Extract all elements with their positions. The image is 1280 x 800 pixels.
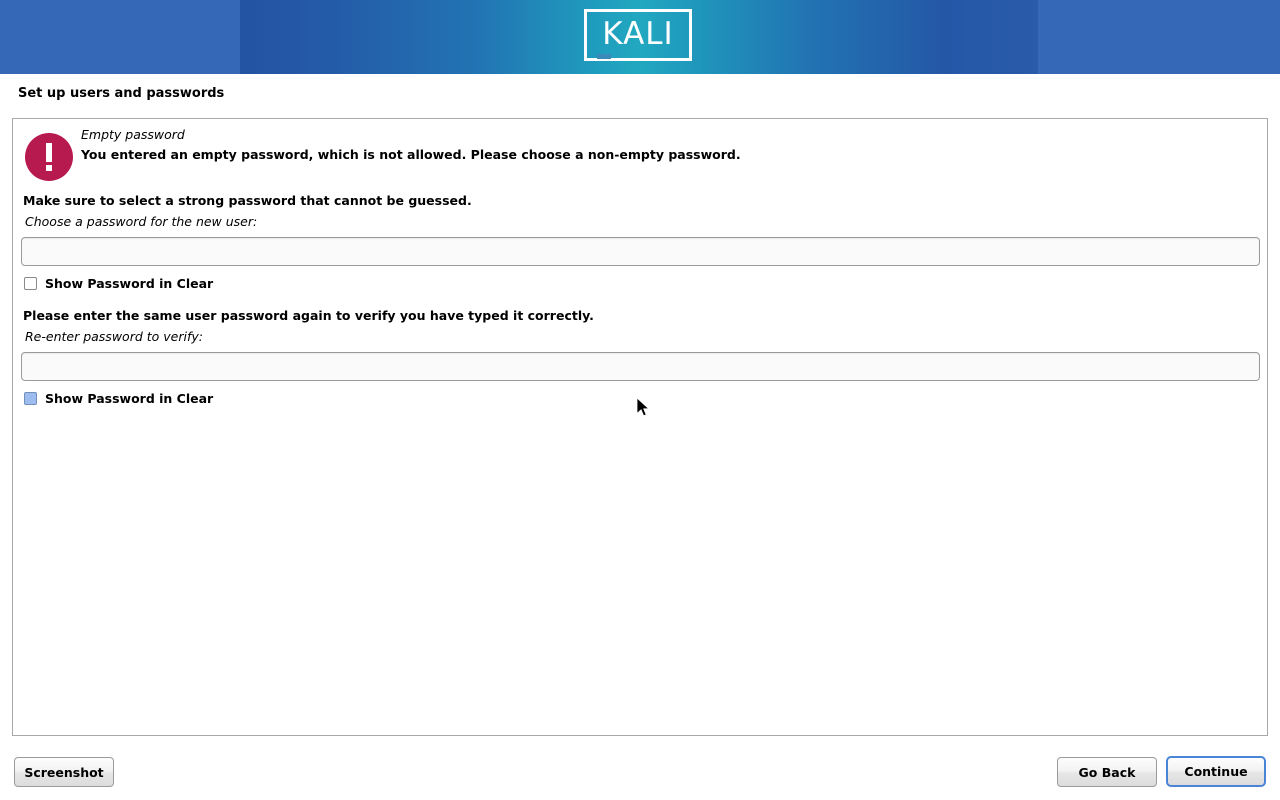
page-title: Set up users and passwords [18, 86, 224, 101]
show-password-label-1: Show Password in Clear [45, 276, 213, 291]
error-title: Empty password [81, 127, 185, 142]
go-back-button[interactable]: Go Back [1057, 757, 1157, 787]
error-message: You entered an empty password, which is … [81, 147, 741, 162]
show-password-label-2: Show Password in Clear [45, 391, 213, 406]
show-password-checkbox-1[interactable] [24, 277, 37, 290]
verify-password-hint: Please enter the same user password agai… [23, 308, 594, 323]
password-field-label: Choose a password for the new user: [25, 214, 257, 229]
kali-banner: KALI [0, 0, 1280, 74]
verify-password-input[interactable] [21, 352, 1260, 381]
password-strength-hint: Make sure to select a strong password th… [23, 193, 472, 208]
exclamation-dot [46, 165, 52, 171]
screenshot-button[interactable]: Screenshot [14, 757, 114, 787]
installer-window: KALI Set up users and passwords Empty pa… [0, 0, 1280, 800]
kali-logo: KALI [584, 9, 696, 65]
verify-field-label: Re-enter password to verify: [25, 329, 203, 344]
exclamation-stem [46, 143, 52, 162]
continue-button[interactable]: Continue [1166, 756, 1266, 787]
show-password-checkbox-2[interactable] [24, 392, 37, 405]
content-panel: Empty password You entered an empty pass… [12, 118, 1268, 736]
password-input[interactable] [21, 237, 1260, 266]
kali-logo-text: KALI [584, 9, 692, 61]
error-exclamation-icon [25, 133, 73, 181]
